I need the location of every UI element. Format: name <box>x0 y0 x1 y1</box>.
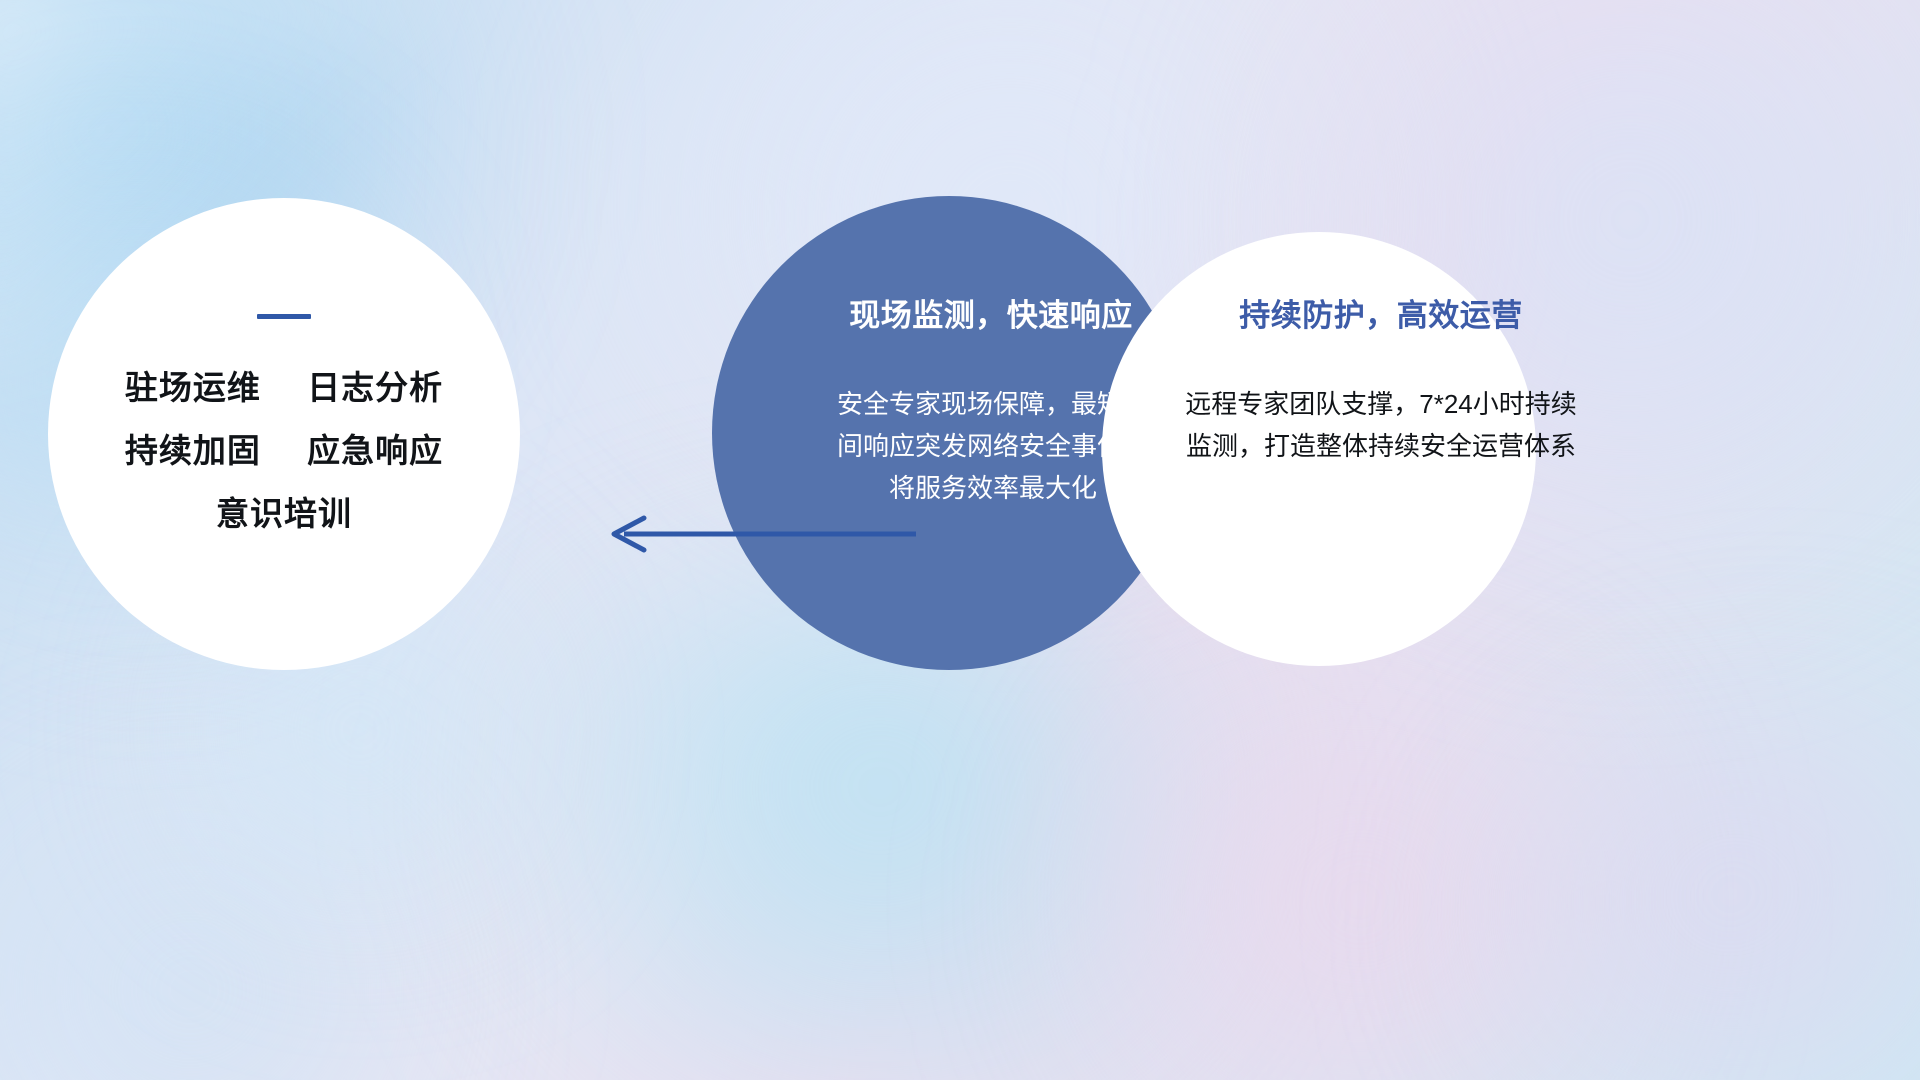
left-tag-2a: 持续加固 <box>125 432 261 469</box>
left-circle-line-1: 驻场运维 日志分析 <box>125 371 443 404</box>
left-tag-1a: 驻场运维 <box>125 369 261 406</box>
left-circle-line-2: 持续加固 应急响应 <box>125 434 443 467</box>
middle-circle-title: 现场监测，快速响应 <box>849 300 1133 331</box>
left-circle-divider <box>257 314 311 319</box>
right-circle-content: 持续防护，高效运营 远程专家团队支撑，7*24小时持续监测，打造整体持续安全运营… <box>1102 232 1536 666</box>
left-tag-3a: 意识培训 <box>216 495 352 532</box>
left-tag-2b: 应急响应 <box>307 432 443 469</box>
left-circle-line-3: 意识培训 <box>216 497 352 530</box>
left-circle-content: 驻场运维 日志分析 持续加固 应急响应 意识培训 <box>48 198 520 670</box>
left-tag-1b: 日志分析 <box>307 369 443 406</box>
slide-canvas: 驻场运维 日志分析 持续加固 应急响应 意识培训 现场监测，快速响应 安全专家现… <box>0 0 1920 1080</box>
right-circle-body: 远程专家团队支撑，7*24小时持续监测，打造整体持续安全运营体系 <box>1181 383 1581 467</box>
right-circle-title: 持续防护，高效运营 <box>1239 300 1523 331</box>
